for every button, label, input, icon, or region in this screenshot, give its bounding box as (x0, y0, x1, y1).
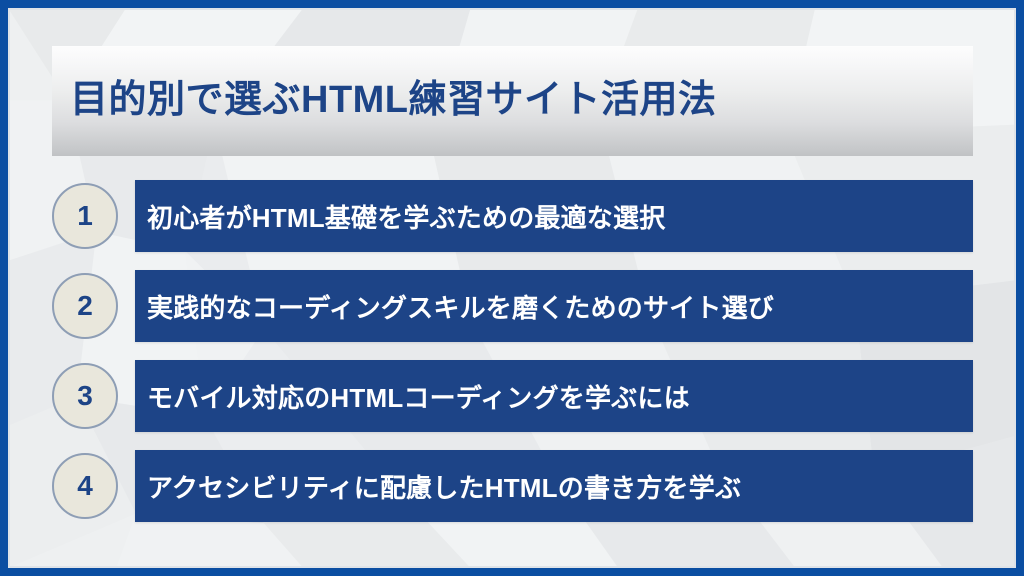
item-number-badge: 1 (52, 183, 118, 249)
item-label: 初心者がHTML基礎を学ぶための最適な選択 (147, 198, 665, 235)
item-number: 1 (77, 200, 93, 232)
item-label: アクセシビリティに配慮したHTMLの書き方を学ぶ (147, 468, 741, 505)
item-number-badge: 2 (52, 273, 118, 339)
list-item[interactable]: 4 アクセシビリティに配慮したHTMLの書き方を学ぶ (52, 450, 973, 522)
item-number-badge: 4 (52, 453, 118, 519)
item-bar[interactable]: 初心者がHTML基礎を学ぶための最適な選択 (135, 180, 973, 252)
list-item[interactable]: 1 初心者がHTML基礎を学ぶための最適な選択 (52, 180, 973, 252)
item-number-badge: 3 (52, 363, 118, 429)
list-item[interactable]: 2 実践的なコーディングスキルを磨くためのサイト選び (52, 270, 973, 342)
item-number: 3 (77, 380, 93, 412)
item-bar[interactable]: 実践的なコーディングスキルを磨くためのサイト選び (135, 270, 973, 342)
item-bar[interactable]: モバイル対応のHTMLコーディングを学ぶには (135, 360, 973, 432)
numbered-list: 1 初心者がHTML基礎を学ぶための最適な選択 2 実践的なコーディングスキルを… (52, 180, 973, 522)
item-bar[interactable]: アクセシビリティに配慮したHTMLの書き方を学ぶ (135, 450, 973, 522)
item-number: 4 (77, 470, 93, 502)
page-title: 目的別で選ぶHTML練習サイト活用法 (70, 80, 717, 122)
item-number: 2 (77, 290, 93, 322)
item-label: 実践的なコーディングスキルを磨くためのサイト選び (147, 288, 774, 325)
slide-canvas: 目的別で選ぶHTML練習サイト活用法 1 初心者がHTML基礎を学ぶための最適な… (0, 0, 1024, 576)
item-label: モバイル対応のHTMLコーディングを学ぶには (147, 378, 690, 415)
title-banner: 目的別で選ぶHTML練習サイト活用法 (52, 46, 973, 156)
list-item[interactable]: 3 モバイル対応のHTMLコーディングを学ぶには (52, 360, 973, 432)
